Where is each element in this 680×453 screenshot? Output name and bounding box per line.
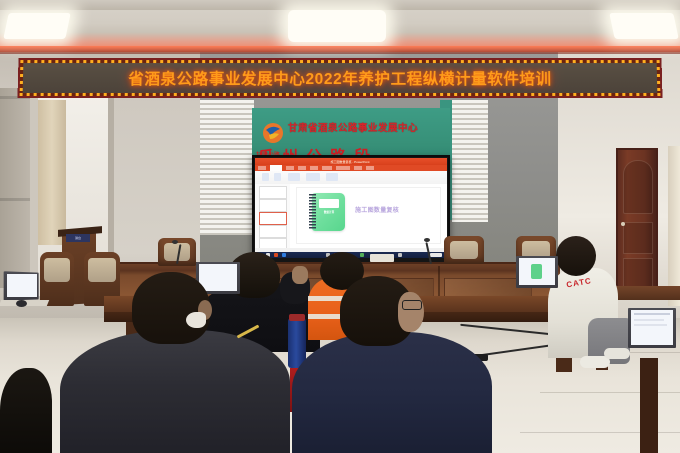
ceiling-light-right-icon	[609, 13, 679, 39]
taskbar-explorer-icon[interactable]	[282, 253, 286, 257]
microphone-left-head-icon	[172, 240, 178, 244]
powerpoint-ribbon[interactable]	[255, 171, 447, 185]
attendee-face-mask	[186, 312, 206, 328]
window-blinds-right	[452, 100, 488, 222]
slide-thumbnail-2[interactable]	[259, 199, 287, 212]
attendee-far-left	[0, 368, 52, 453]
taskbar-clock[interactable]	[430, 253, 442, 257]
ribbon-tab-design[interactable]	[298, 166, 306, 170]
slide-thumbnail-1[interactable]	[259, 186, 287, 199]
ribbon-font-group[interactable]	[288, 173, 300, 181]
computer-mouse[interactable]	[16, 300, 27, 307]
side-chair-1-pad	[44, 258, 70, 282]
wall-trim-2	[0, 198, 34, 201]
side-chair-2-pad	[88, 258, 116, 282]
gansu-highway-logo-icon	[262, 122, 284, 144]
curtain-left	[38, 100, 66, 245]
ribbon-tab-view[interactable]	[366, 166, 374, 170]
attendee-shoe-right	[604, 348, 630, 359]
door-panel-mid	[623, 222, 653, 254]
ceiling-light-left-icon	[3, 13, 71, 39]
left-wall-panel	[0, 88, 34, 288]
foreground-desk-post	[640, 358, 658, 453]
ribbon-tab-slideshow[interactable]	[336, 166, 350, 170]
ribbon-tab-transitions[interactable]	[310, 166, 318, 170]
ceiling-beam	[0, 0, 680, 10]
laptop-doc-line-1	[634, 313, 670, 315]
ribbon-paste-icon[interactable]	[262, 173, 269, 181]
door-panel-top	[623, 160, 653, 214]
slide-thumbnail-3[interactable]	[259, 212, 287, 225]
ribbon-paragraph-group[interactable]	[306, 173, 320, 181]
attendee-navy-jacket	[292, 332, 492, 453]
led-banner-text: 省酒泉公路事业发展中心2022年养护工程纵横计量软件培训	[24, 63, 657, 93]
ribbon-tab-file[interactable]	[258, 166, 266, 170]
attendee-navy-jacket-face	[398, 292, 424, 332]
ceiling-light-center-icon	[288, 10, 386, 42]
notebook-label	[319, 199, 339, 208]
floor-tile-line-2	[540, 392, 680, 393]
microphone-right-head-icon	[424, 238, 430, 242]
conference-room-photo: 甘肃省酒泉公路事业发展中心 甘肃公路 瓜州公路段 省酒泉公路事业发展中心2022…	[0, 0, 680, 453]
laptop-center-screen[interactable]	[199, 264, 237, 291]
ceiling-red-glow	[0, 46, 680, 54]
taskbar-tray-icon[interactable]	[398, 253, 402, 257]
eyeglasses-icon	[402, 300, 422, 310]
notebook-spiral-icon	[309, 194, 316, 230]
laptop-doc-line-3	[634, 324, 667, 326]
slide-heading: 施工图数量复核	[355, 205, 435, 214]
door-frame-left	[30, 98, 38, 293]
laptop-right-slide-icon	[531, 264, 542, 279]
ribbon-tab-review[interactable]	[354, 166, 362, 170]
ribbon-tab-insert[interactable]	[286, 166, 294, 170]
ribbon-newslide-icon[interactable]	[274, 173, 281, 181]
laptop-left-edge-screen[interactable]	[7, 274, 37, 297]
laptop-doc-line-2	[634, 319, 664, 321]
powerpoint-title-text: 施工图数量复核 - PowerPoint	[300, 159, 400, 165]
podium-nameplate-text: 讲台	[67, 236, 89, 240]
name-card-placeholder	[370, 254, 394, 262]
door-handle[interactable]	[621, 222, 625, 226]
taskbar-app-icon-3[interactable]	[360, 253, 364, 257]
window-blinds-left	[200, 100, 254, 235]
notebook-sub-text: 数量计算	[318, 211, 340, 214]
thermos-cap[interactable]	[289, 314, 305, 321]
rostrum-chair-pad-2	[450, 241, 478, 259]
attendee-white-shirt-head	[556, 236, 596, 276]
attendee-dark-suit	[60, 330, 290, 453]
laptop-bottom-right-screen[interactable]	[631, 310, 673, 345]
ribbon-tab-animations[interactable]	[322, 166, 332, 170]
ribbon-drawing-group[interactable]	[326, 173, 338, 181]
slide-thumbnail-4[interactable]	[259, 225, 287, 238]
attendee-black-jacket-hand	[292, 266, 308, 284]
curtain-right	[668, 146, 680, 306]
banner-line-1: 甘肃省酒泉公路事业发展中心	[288, 120, 448, 134]
taskbar-powerpoint-icon[interactable]	[274, 253, 278, 257]
